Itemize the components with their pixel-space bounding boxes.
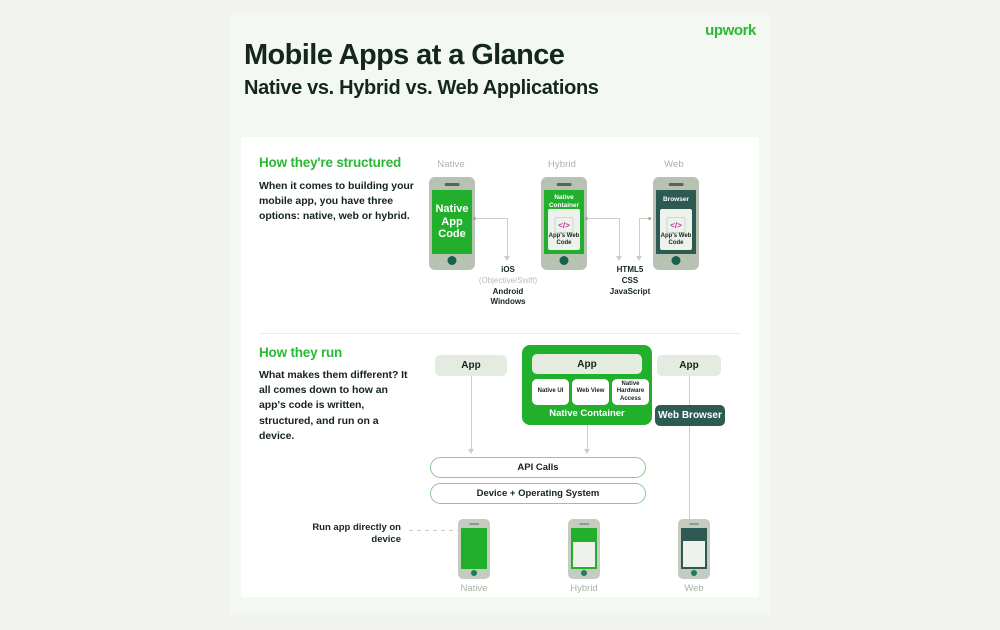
device-label-native: Native [444,583,504,594]
web-code-box: </> App's Web Code [660,209,692,250]
run-heading: How they run [259,345,342,360]
arrow-container-to-api [584,449,590,454]
web-browser-label: Browser [656,196,696,203]
web-screen-band [683,530,705,541]
phone-home-button [672,256,681,265]
phone-native-screen: Native App Code [432,190,472,254]
structured-body: When it comes to building your mobile ap… [259,179,423,225]
device-hybrid-screen [571,528,597,569]
arrow-web-down [636,256,642,261]
phone-web: Browser </> App's Web Code [653,177,699,270]
connector-web-v [639,218,640,256]
stack-objective-swift: (Objective/Swift) [467,276,549,287]
module-native-ui: Native UI [532,379,569,405]
connector-native-v [507,218,508,256]
device-phone-hybrid [568,519,600,579]
poster-header: Mobile Apps at a Glance Native vs. Hybri… [244,40,756,99]
stack-javascript: JavaScript [589,287,671,298]
device-native-screen [461,528,487,569]
line-web-app-to-browser [689,376,690,405]
stack-web-labels: HTML5 CSS JavaScript [589,265,671,297]
native-line-2: App [441,216,462,229]
module-native-hardware-access: Native Hardware Access [612,379,649,405]
upwork-logo: upwork [705,22,756,39]
phone-web-screen: Browser </> App's Web Code [656,190,696,254]
code-glyph-icon: </> [554,217,573,233]
arrow-hybrid-down [616,256,622,261]
infographic-page: Mobile Apps at a Glance Native vs. Hybri… [0,0,1000,630]
phone-speaker [469,523,479,525]
column-label-hybrid: Hybrid [527,159,597,170]
stack-html5: HTML5 [589,265,671,276]
content-card: How they're structured When it comes to … [241,137,759,597]
dashed-connector [409,530,459,531]
stack-windows: Windows [467,297,549,308]
column-label-web: Web [639,159,709,170]
phone-home-button [581,570,587,576]
phone-home-button [471,570,477,576]
native-container-block: App Native UI Web View Native Hardware A… [522,345,652,425]
hybrid-native-container-label: Native Container [544,194,584,210]
arrow-line-native-to-api [471,376,472,449]
run-body: What makes them different? It all comes … [259,368,411,444]
run-directly-label: Run app directly on device [291,522,401,547]
phone-home-button [560,256,569,265]
phone-speaker [669,183,684,186]
phone-hybrid-screen: Native Container </> App's Web Code [544,190,584,254]
phone-hybrid: Native Container </> App's Web Code [541,177,587,270]
device-label-hybrid: Hybrid [554,583,614,594]
connector-hybrid-v [619,218,620,256]
bar-device-os: Device + Operating System [430,483,646,504]
hybrid-web-code-label: App's Web Code [548,233,580,247]
web-code-label: App's Web Code [660,233,692,247]
phone-speaker [445,183,460,186]
phone-speaker [557,183,572,186]
stack-ios: iOS [467,265,549,276]
web-browser-pill: Web Browser [655,405,725,426]
device-web-screen [681,528,707,569]
bar-api-calls: API Calls [430,457,646,478]
native-container-caption: Native Container [522,408,652,419]
arrow-native-to-api [468,449,474,454]
column-label-native: Native [416,159,486,170]
phone-home-button [691,570,697,576]
run-native-app-box: App [435,355,507,376]
native-app-code-text: Native App Code [432,190,472,254]
hybrid-screen-band [573,530,595,542]
phone-speaker [579,523,589,525]
device-phone-native [458,519,490,579]
poster-canvas: Mobile Apps at a Glance Native vs. Hybri… [230,15,770,615]
code-glyph-icon: </> [666,217,685,233]
stack-android: Android [467,287,549,298]
stack-css: CSS [589,276,671,287]
hybrid-web-code-box: </> App's Web Code [548,209,580,250]
arrow-line-container-to-api [587,425,588,449]
connector-native-h [475,218,507,219]
structured-heading: How they're structured [259,155,401,170]
connector-hybrid-h [587,218,619,219]
phone-speaker [689,523,699,525]
native-line-1: Native [435,203,468,216]
phone-home-button [448,256,457,265]
container-app-box: App [532,354,642,374]
section-divider [259,333,741,334]
arrow-native-down [504,256,510,261]
phone-native: Native App Code [429,177,475,270]
module-web-view: Web View [572,379,609,405]
stack-native-labels: iOS (Objective/Swift) Android Windows [467,265,549,308]
page-subtitle: Native vs. Hybrid vs. Web Applications [244,77,756,99]
device-phone-web [678,519,710,579]
device-label-web: Web [664,583,724,594]
native-line-3: Code [438,228,466,241]
run-web-app-box: App [657,355,721,376]
page-title: Mobile Apps at a Glance [244,40,756,71]
connector-web-h [639,218,649,219]
arrow-line-browser-to-device [689,426,690,524]
